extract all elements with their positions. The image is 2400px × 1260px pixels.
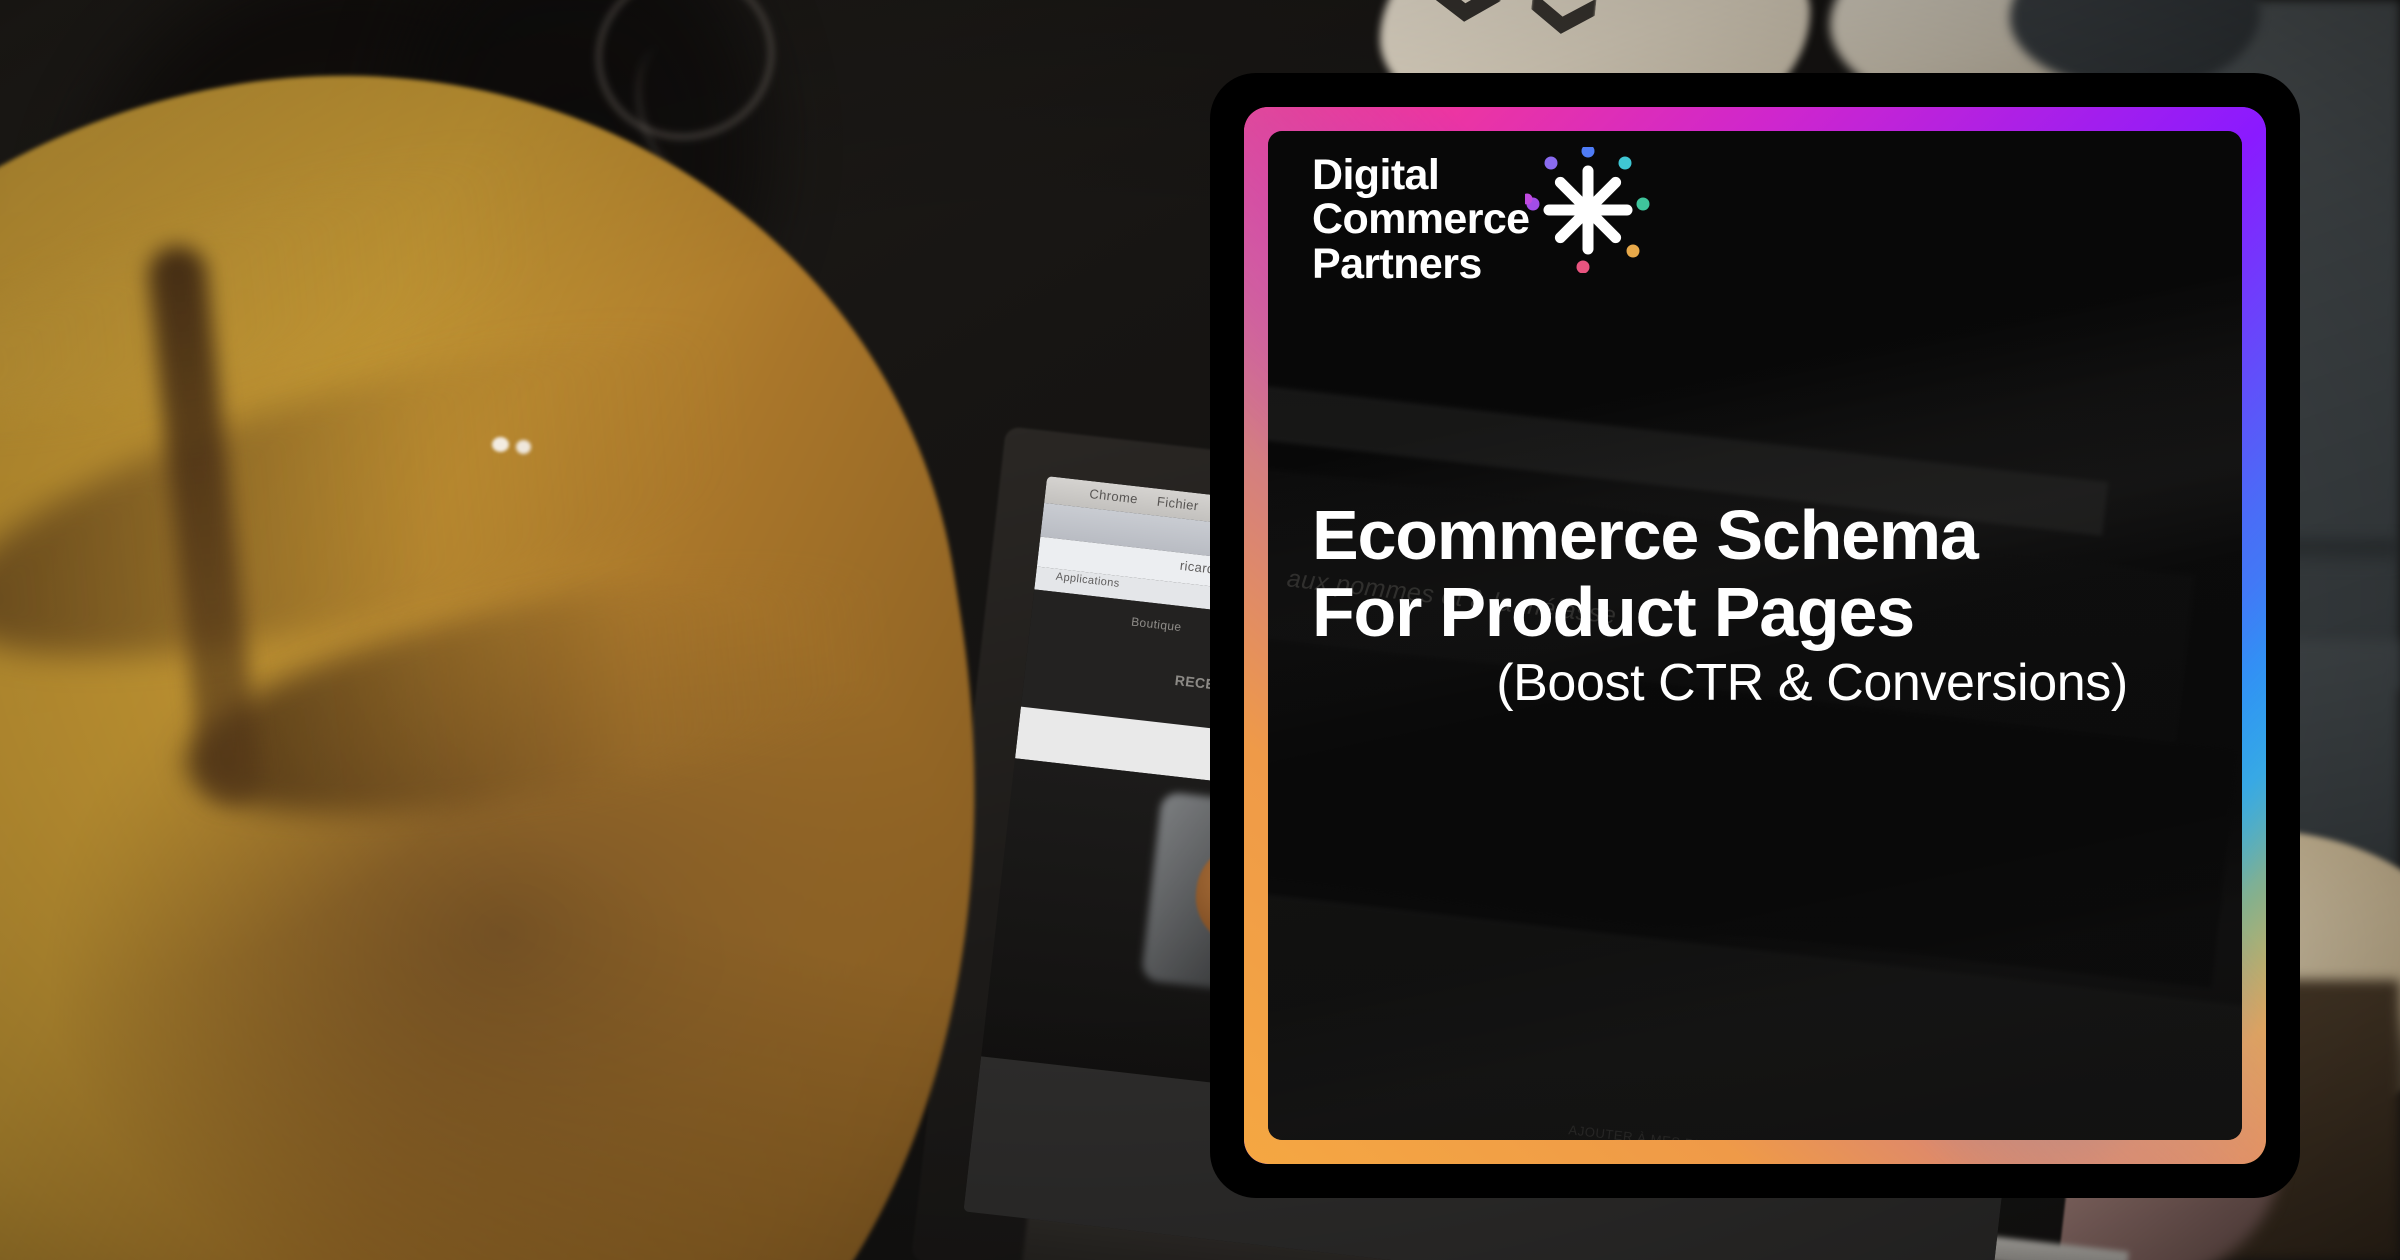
- headline-line-2: For Product Pages: [1312, 574, 2242, 651]
- gradient-card-frame: aux pommes et à la mélasse AJOUTER À MES…: [1210, 73, 2300, 1198]
- sparkle-dot-pink: [1577, 261, 1590, 274]
- brand-logo-wordmark: Digital Commerce Partners: [1312, 153, 1529, 286]
- sparkle-dot-blue: [1582, 147, 1595, 158]
- sparkle-dot-green: [1637, 198, 1650, 211]
- sparkle-dot-teal: [1619, 157, 1632, 170]
- card-content-panel: aux pommes et à la mélasse AJOUTER À MES…: [1268, 131, 2242, 1140]
- sparkle-dot-amber: [1627, 245, 1640, 258]
- brand-logo[interactable]: Digital Commerce Partners: [1312, 153, 1651, 286]
- card-subheadline: (Boost CTR & Conversions): [1312, 653, 2242, 713]
- ring-highlight-b: [516, 440, 531, 454]
- sparkle-asterisk-icon: [1525, 147, 1651, 273]
- screenshot-canvas: Chrome Fichier Modifier Affichage ricard…: [0, 0, 2400, 1260]
- brand-logo-line-2: Commerce: [1312, 197, 1529, 241]
- ring-highlight-a: [492, 437, 509, 452]
- brand-logo-line-3: Partners: [1312, 242, 1529, 286]
- sparkle-dot-purple: [1545, 157, 1558, 170]
- headline-line-1: Ecommerce Schema: [1312, 497, 2242, 574]
- card-headline: Ecommerce Schema For Product Pages: [1312, 497, 2242, 651]
- gradient-border: aux pommes et à la mélasse AJOUTER À MES…: [1244, 107, 2266, 1164]
- brand-logo-line-1: Digital: [1312, 153, 1529, 197]
